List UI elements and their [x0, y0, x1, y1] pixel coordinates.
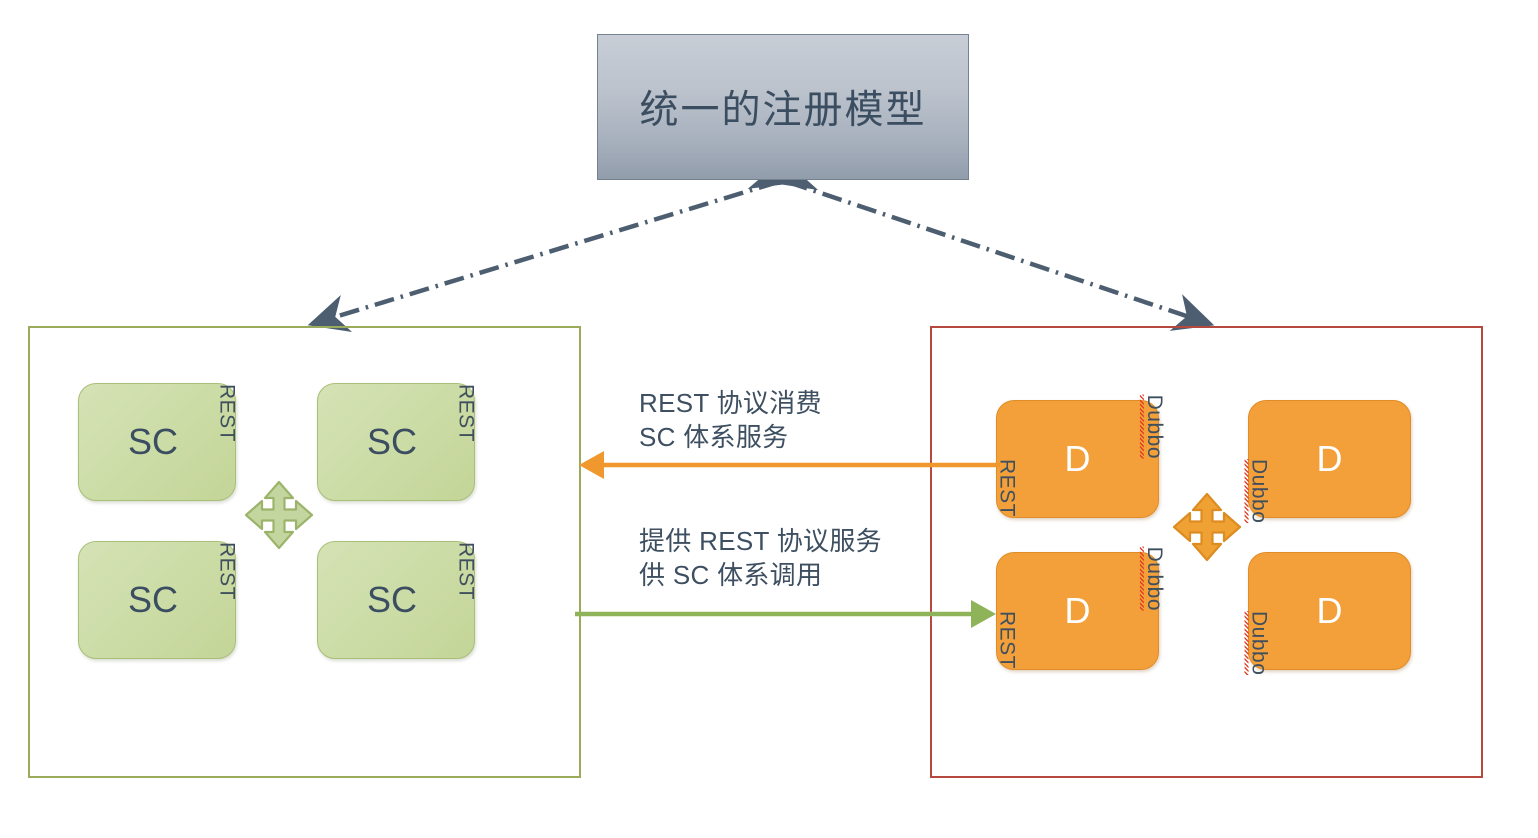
sc-node-1[interactable]: SC REST	[78, 383, 236, 501]
dubbo-node-2-dubbo-label: Dubbo	[1249, 459, 1270, 523]
dubbo-node-2-label: D	[1317, 441, 1343, 477]
diagram-canvas: 统一的注册模型 SC REST SC REST SC REST SC REST …	[0, 0, 1538, 838]
arrow-rest-consume-left	[575, 440, 1000, 490]
sc-node-3-label: SC	[128, 582, 178, 618]
sc-node-2-rest-label: REST	[456, 384, 477, 442]
sc-node-2[interactable]: SC REST	[317, 383, 475, 501]
dubbo-node-4[interactable]: D Dubbo	[1248, 552, 1411, 670]
dubbo-node-4-label: D	[1317, 593, 1343, 629]
dubbo-node-2[interactable]: D Dubbo	[1248, 400, 1411, 518]
sc-node-3[interactable]: SC REST	[78, 541, 236, 659]
dubbo-node-3[interactable]: D REST Dubbo	[996, 552, 1159, 670]
sc-node-4[interactable]: SC REST	[317, 541, 475, 659]
four-way-move-icon-orange	[1171, 491, 1243, 563]
connector-right	[788, 182, 1210, 324]
sc-node-1-rest-label: REST	[217, 384, 238, 442]
sc-node-4-label: SC	[367, 582, 417, 618]
dubbo-node-1[interactable]: D REST Dubbo	[996, 400, 1159, 518]
dubbo-node-3-dubbo-label: Dubbo	[1144, 547, 1165, 611]
dubbo-node-4-dubbo-label: Dubbo	[1249, 611, 1270, 675]
registry-model-title-box: 统一的注册模型	[597, 34, 969, 180]
four-way-move-icon-green	[243, 479, 315, 551]
page-title: 统一的注册模型	[639, 79, 926, 135]
dubbo-node-1-dubbo-label: Dubbo	[1144, 395, 1165, 459]
sc-node-3-rest-label: REST	[217, 542, 238, 600]
sc-node-2-label: SC	[367, 424, 417, 460]
sc-node-1-label: SC	[128, 424, 178, 460]
connector-left	[312, 182, 778, 324]
sc-node-4-rest-label: REST	[456, 542, 477, 600]
arrow-rest-provide-right	[575, 589, 1000, 639]
caption-rest-provide: 提供 REST 协议服务 供 SC 体系调用	[639, 524, 882, 593]
dubbo-node-3-label: D	[1065, 593, 1091, 629]
dubbo-node-1-label: D	[1065, 441, 1091, 477]
